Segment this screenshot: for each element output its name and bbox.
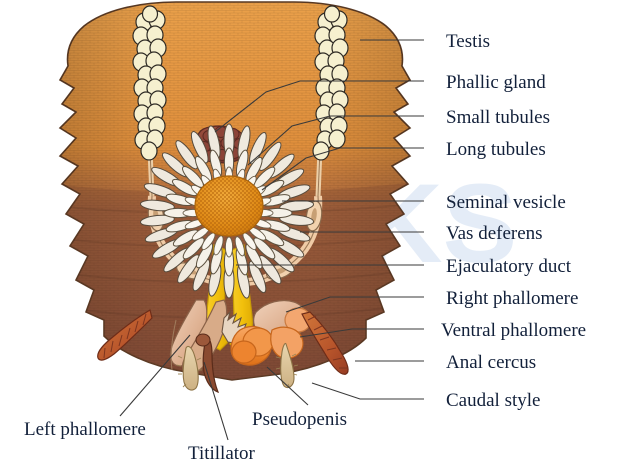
label-caudal-style: Caudal style xyxy=(446,390,540,411)
label-pseudopenis: Pseudopenis xyxy=(252,409,347,430)
label-vas-deferens: Vas deferens xyxy=(446,223,543,244)
label-left-phallomere: Left phallomere xyxy=(24,419,146,440)
label-testis: Testis xyxy=(446,31,490,52)
label-ejaculatory-duct: Ejaculatory duct xyxy=(446,256,572,277)
label-ventral-phallomere: Ventral phallomere xyxy=(441,320,586,341)
figure-canvas: WORKS xyxy=(0,0,636,470)
anatomy-diagram: WORKS xyxy=(0,0,636,470)
leader-caudal-style xyxy=(312,383,424,399)
label-right-phallomere: Right phallomere xyxy=(446,288,578,309)
label-phallic-gland: Phallic gland xyxy=(446,72,546,93)
label-seminal-vesicle: Seminal vesicle xyxy=(446,192,566,213)
label-anal-cercus: Anal cercus xyxy=(446,352,536,373)
label-long-tubules: Long tubules xyxy=(446,139,546,160)
gland-center xyxy=(195,176,263,236)
label-small-tubules: Small tubules xyxy=(446,107,550,128)
label-titillator: Titillator xyxy=(188,443,256,464)
